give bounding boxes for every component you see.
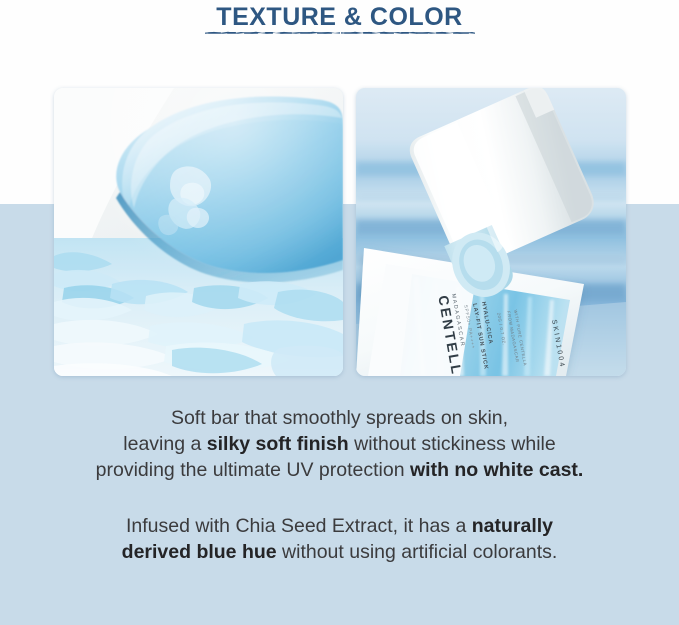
title-underline-icon: [204, 29, 476, 36]
product-stick-image: MADAGASCAR CENTELLA HYALU-CICA LAY-FIT S…: [356, 88, 626, 376]
p2-l2-post: without using artificial colorants.: [277, 541, 558, 563]
texture-closeup-image: [54, 88, 343, 376]
paragraph-one-line-3: providing the ultimate UV protection wit…: [0, 457, 679, 483]
p1-l2-post: without stickiness while: [349, 433, 556, 455]
paragraph-one: Soft bar that smoothly spreads on skin, …: [0, 405, 679, 483]
paragraph-two: Infused with Chia Seed Extract, it has a…: [0, 513, 679, 565]
paragraph-one-line-1: Soft bar that smoothly spreads on skin,: [0, 405, 679, 431]
p1-l3-bold: with no white cast.: [410, 459, 583, 481]
p1-l3-pre: providing the ultimate UV protection: [96, 459, 410, 481]
p2-l1-pre: Infused with Chia Seed Extract, it has a: [126, 515, 472, 537]
image-gallery: MADAGASCAR CENTELLA HYALU-CICA LAY-FIT S…: [0, 88, 679, 376]
section-header: TEXTURE & COLOR: [0, 0, 679, 48]
p2-l2-bold: derived blue hue: [122, 541, 277, 563]
paragraph-two-line-1: Infused with Chia Seed Extract, it has a…: [0, 513, 679, 539]
paragraph-one-line-2: leaving a silky soft finish without stic…: [0, 431, 679, 457]
paragraph-two-line-2: derived blue hue without using artificia…: [0, 539, 679, 565]
gallery-card-texture[interactable]: [54, 88, 343, 376]
description-block: Soft bar that smoothly spreads on skin, …: [0, 405, 679, 565]
promo-page: TEXTURE & COLOR: [0, 0, 679, 625]
p1-l2-pre: leaving a: [123, 433, 206, 455]
p1-l2-bold: silky soft finish: [207, 433, 349, 455]
p2-l1-bold: naturally: [472, 515, 553, 537]
gallery-card-product[interactable]: MADAGASCAR CENTELLA HYALU-CICA LAY-FIT S…: [356, 88, 626, 376]
page-title: TEXTURE & COLOR: [0, 0, 679, 30]
